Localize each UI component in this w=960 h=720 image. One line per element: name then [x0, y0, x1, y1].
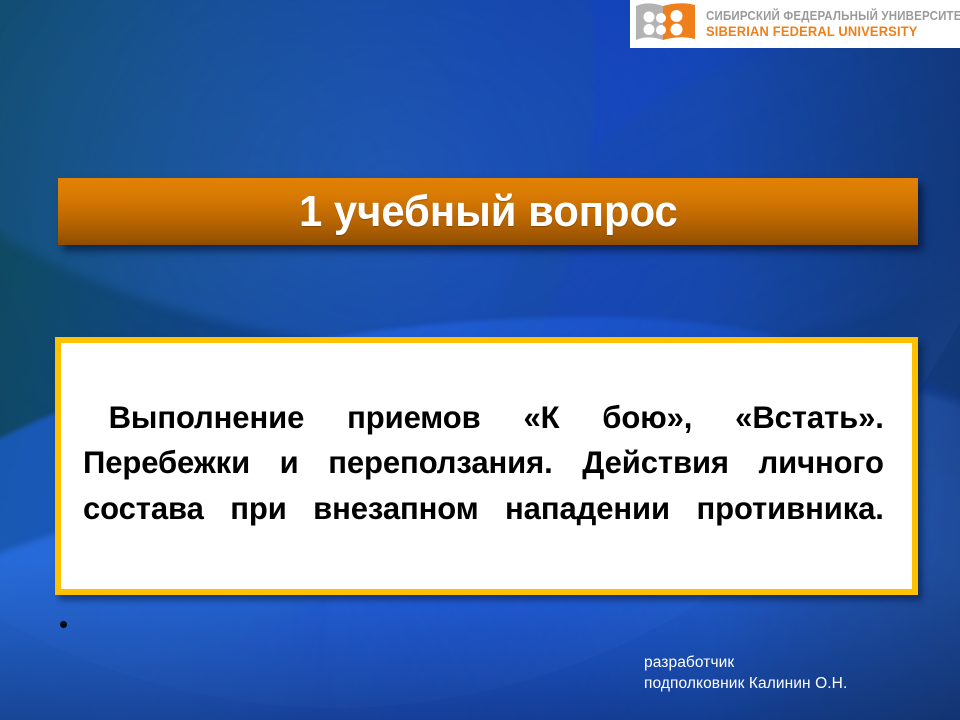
logo-line-english: SIBERIAN FEDERAL UNIVERSITY	[706, 24, 960, 38]
content-text-box: Выполнение приемов «К бою», «Встать». Пе…	[55, 337, 918, 595]
logo-line-russian: СИБИРСКИЙ ФЕДЕРАЛЬНЫЙ УНИВЕРСИТЕТ	[706, 10, 960, 23]
university-logo-band: СИБИРСКИЙ ФЕДЕРАЛЬНЫЙ УНИВЕРСИТЕТ SIBERI…	[630, 0, 960, 48]
slide-title: 1 учебный вопрос	[299, 187, 678, 237]
presentation-slide: СИБИРСКИЙ ФЕДЕРАЛЬНЫЙ УНИВЕРСИТЕТ SIBERI…	[0, 0, 960, 720]
content-inner: Выполнение приемов «К бою», «Встать». Пе…	[61, 343, 912, 576]
siberian-federal-university-flag-logo	[634, 2, 700, 46]
footer-author-name: подполковник Калинин О.Н.	[644, 673, 847, 694]
bullet-point-marker	[60, 621, 67, 628]
slide-footer: разработчик подполковник Калинин О.Н.	[644, 652, 847, 695]
university-logo-text: СИБИРСКИЙ ФЕДЕРАЛЬНЫЙ УНИВЕРСИТЕТ SIBERI…	[706, 10, 960, 38]
footer-role-label: разработчик	[644, 652, 847, 673]
content-paragraph: Выполнение приемов «К бою», «Встать». Пе…	[83, 395, 884, 576]
title-banner: 1 учебный вопрос	[58, 178, 918, 245]
